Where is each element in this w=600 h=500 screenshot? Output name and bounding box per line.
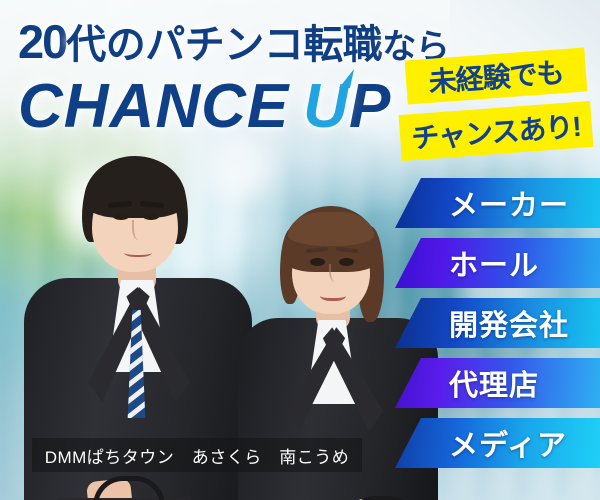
headline-number: 20 xyxy=(18,15,66,68)
category-button-agency[interactable]: 代理店 xyxy=(395,358,600,408)
no-experience-badge: 未経験でも チャンスあり! xyxy=(398,52,594,164)
badge-line-2: チャンスあり! xyxy=(399,101,594,161)
female-mouth xyxy=(320,288,346,301)
logo-u-arrow: U xyxy=(303,76,349,138)
category-list: メーカー ホール 開発会社 代理店 メディア xyxy=(395,178,600,488)
category-button-developer[interactable]: 開発会社 xyxy=(395,298,600,348)
category-button-hall[interactable]: ホール xyxy=(395,238,600,288)
female-eye-left xyxy=(310,258,325,266)
male-hair-top xyxy=(84,156,186,218)
male-eye-left xyxy=(113,213,129,220)
male-eye-right xyxy=(143,213,159,220)
male-nose xyxy=(132,220,143,240)
category-button-maker[interactable]: メーカー xyxy=(395,178,600,228)
caption-text: DMMぱちタウン あさくら 南こうめ xyxy=(32,438,362,472)
headline-main: 代のパチンコ転職 xyxy=(66,23,382,67)
chance-up-logo: CHANCEUP xyxy=(18,76,391,138)
category-button-media[interactable]: メディア xyxy=(395,418,600,468)
logo-chance-text: CHANCE xyxy=(18,72,289,141)
female-hair-fringe xyxy=(288,212,374,246)
female-eye-right xyxy=(339,258,354,266)
male-mouth xyxy=(124,246,152,257)
logo-p-text: P xyxy=(349,72,391,141)
badge-line-1: 未経験でも xyxy=(405,47,588,104)
female-nose xyxy=(329,264,339,282)
recruitment-banner: 20代のパチンコ転職なら CHANCEUP 未経験でも チャンスあり! メーカー… xyxy=(0,0,600,500)
headline: 20代のパチンコ転職なら xyxy=(18,18,449,65)
